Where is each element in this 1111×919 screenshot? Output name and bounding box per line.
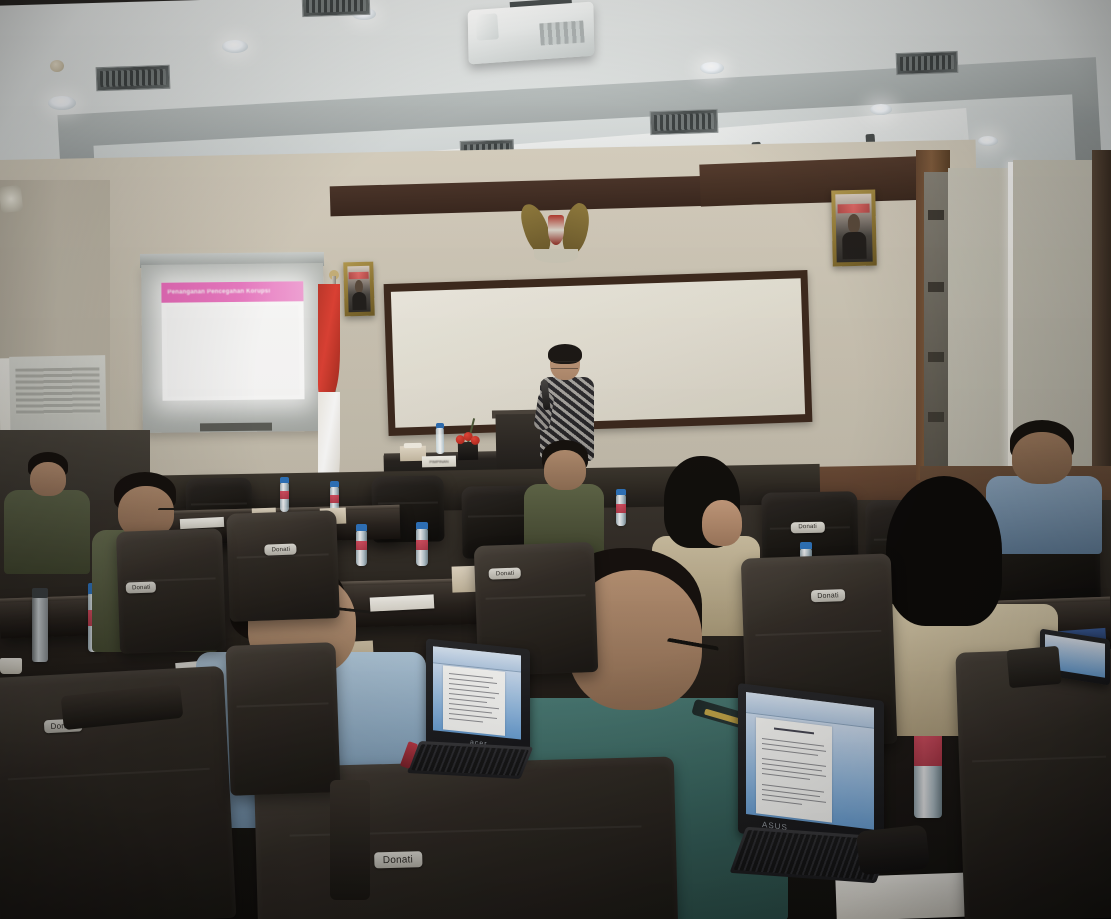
eyeglasses-icon [551,361,578,369]
attendee-uniform [4,490,90,574]
slide-body [167,305,300,396]
camera-bag [856,824,930,875]
laptop-lid: acer [426,639,530,758]
chair-brand-tag: Donati [374,852,422,869]
photograph-scene: Penanganan Pencegahan Korupsi PIMPINAN [0,0,1111,919]
laptop-screen [433,646,521,739]
downlight-icon [870,104,892,115]
slide-title: Penanganan Pencegahan Korupsi [161,289,270,296]
document-page [443,665,505,736]
slide-title-banner: Penanganan Pencegahan Korupsi [161,281,303,302]
attendee-figure [524,440,606,550]
projected-slide: Penanganan Pencegahan Korupsi [161,281,304,400]
ceiling-vent-icon [302,0,371,17]
name-plate-text: PIMPINAN [429,459,448,464]
ceiling-vent-icon [896,51,959,75]
water-bottle-icon [280,482,289,512]
chair-brand-tag: Donati [126,582,156,594]
ceiling-vent-icon [96,65,171,92]
laptop-lid: ASUS [738,683,884,851]
water-bottle-icon [436,428,445,454]
national-flag-red-band [318,284,340,396]
smoke-detector-icon [50,60,64,72]
laptop-screen [746,692,874,830]
wall-sign-icon [0,185,23,213]
eyeglasses-icon [158,508,186,517]
chair-brand-tag: Donati [811,589,845,602]
projector-vent-icon [539,20,584,45]
bottle-cap-icon [800,542,812,549]
office-chair[interactable]: Donati [226,510,340,622]
chair-brand-tag: Donati [489,568,521,580]
downlight-icon [700,62,724,74]
ceiling-vent-icon [650,109,719,135]
whiteboard-surface [391,278,805,428]
bottle-cap-icon [280,477,289,483]
chair-brand-tag: Donati [791,522,825,534]
bottle-cap-icon [356,524,367,531]
framed-portrait-right [831,190,877,267]
chair-brand-tag: Donati [265,544,297,556]
attendee-head [544,450,586,490]
office-chair[interactable]: Donati [116,528,226,654]
projection-screen: Penanganan Pencegahan Korupsi [141,263,325,433]
hijab-head-covering [886,476,1002,626]
downlight-icon [222,40,248,53]
downlight-icon [978,136,998,146]
thermos-cap-icon [32,588,48,598]
framed-portrait-left [343,262,374,317]
water-bottle-icon [616,494,626,526]
name-plate: PIMPINAN [422,456,456,468]
laptop-acer[interactable]: acer [414,644,530,776]
ac-grille [15,367,100,414]
projector-lens-icon [475,13,499,40]
bottle-cap-icon [416,522,428,529]
attendee-head [702,500,742,546]
whiteboard [384,270,813,436]
bottle-cap-icon [616,489,626,495]
chair-armrest [330,780,370,900]
drinking-glass-icon [0,658,22,674]
emblem-ribbon [534,249,578,263]
downlight-icon [48,96,76,110]
screen-weight-bar [200,423,272,432]
thermos-icon [32,596,48,662]
laptop-keyboard[interactable] [407,741,533,779]
flower-vase-icon [458,442,478,460]
attendee-figure [4,450,96,570]
emblem-shield [548,215,564,245]
garuda-emblem-icon [522,197,590,269]
office-chair[interactable] [225,642,340,796]
bottle-cap-icon [330,481,339,487]
attendee-head [30,462,66,496]
hand-holding-pen [1006,646,1061,688]
document-page [756,717,832,822]
